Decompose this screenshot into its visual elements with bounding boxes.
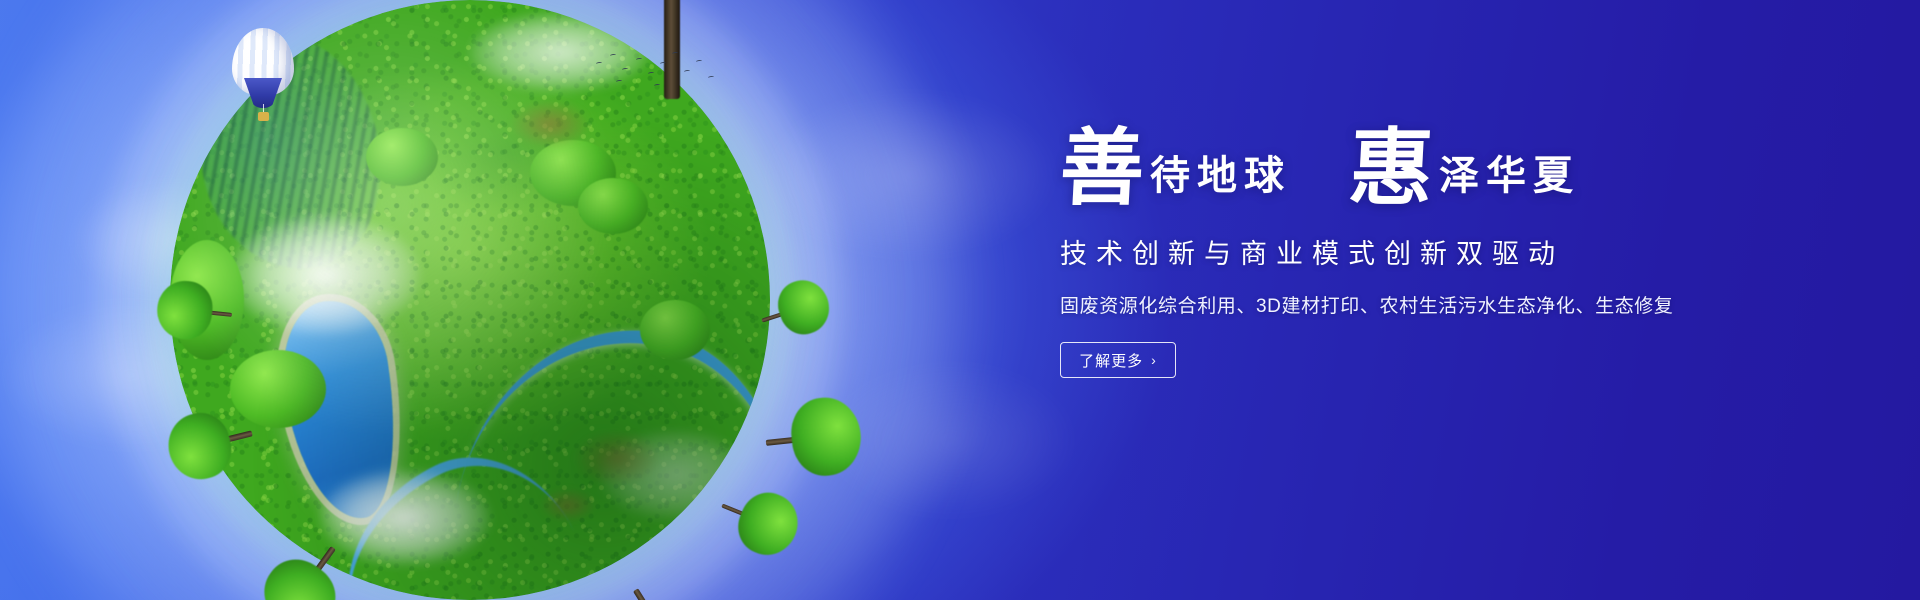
headline-phrase-1: 善 待地球 bbox=[1060, 128, 1291, 212]
rim-tree-1 bbox=[761, 394, 865, 482]
chevron-right-icon: › bbox=[1151, 353, 1157, 367]
balloon-basket bbox=[258, 112, 269, 121]
hot-air-balloon bbox=[232, 28, 294, 124]
learn-more-label: 了解更多 bbox=[1079, 350, 1143, 371]
banner-subtitle: 技术创新与商业模式创新双驱动 bbox=[1060, 232, 1820, 271]
rim-tree-7 bbox=[154, 278, 236, 344]
headline-rest-2: 泽华夏 bbox=[1439, 156, 1580, 212]
learn-more-button[interactable]: 了解更多 › bbox=[1060, 342, 1176, 378]
bird-flock bbox=[592, 48, 722, 90]
headline-lead-char-2: 惠 bbox=[1347, 128, 1435, 212]
headline-phrase-2: 惠 泽华夏 bbox=[1349, 128, 1580, 212]
headline: 善 待地球 惠 泽华夏 bbox=[1060, 128, 1820, 212]
hero-banner: 善 待地球 惠 泽华夏 技术创新与商业模式创新双驱动 固废资源化综合利用、3D建… bbox=[0, 0, 1920, 600]
banner-content: 善 待地球 惠 泽华夏 技术创新与商业模式创新双驱动 固废资源化综合利用、3D建… bbox=[1060, 128, 1820, 378]
banner-description: 固废资源化综合利用、3D建材打印、农村生活污水生态净化、生态修复 bbox=[1060, 291, 1820, 318]
headline-lead-char-1: 善 bbox=[1058, 128, 1146, 212]
headline-rest-1: 待地球 bbox=[1150, 156, 1291, 212]
